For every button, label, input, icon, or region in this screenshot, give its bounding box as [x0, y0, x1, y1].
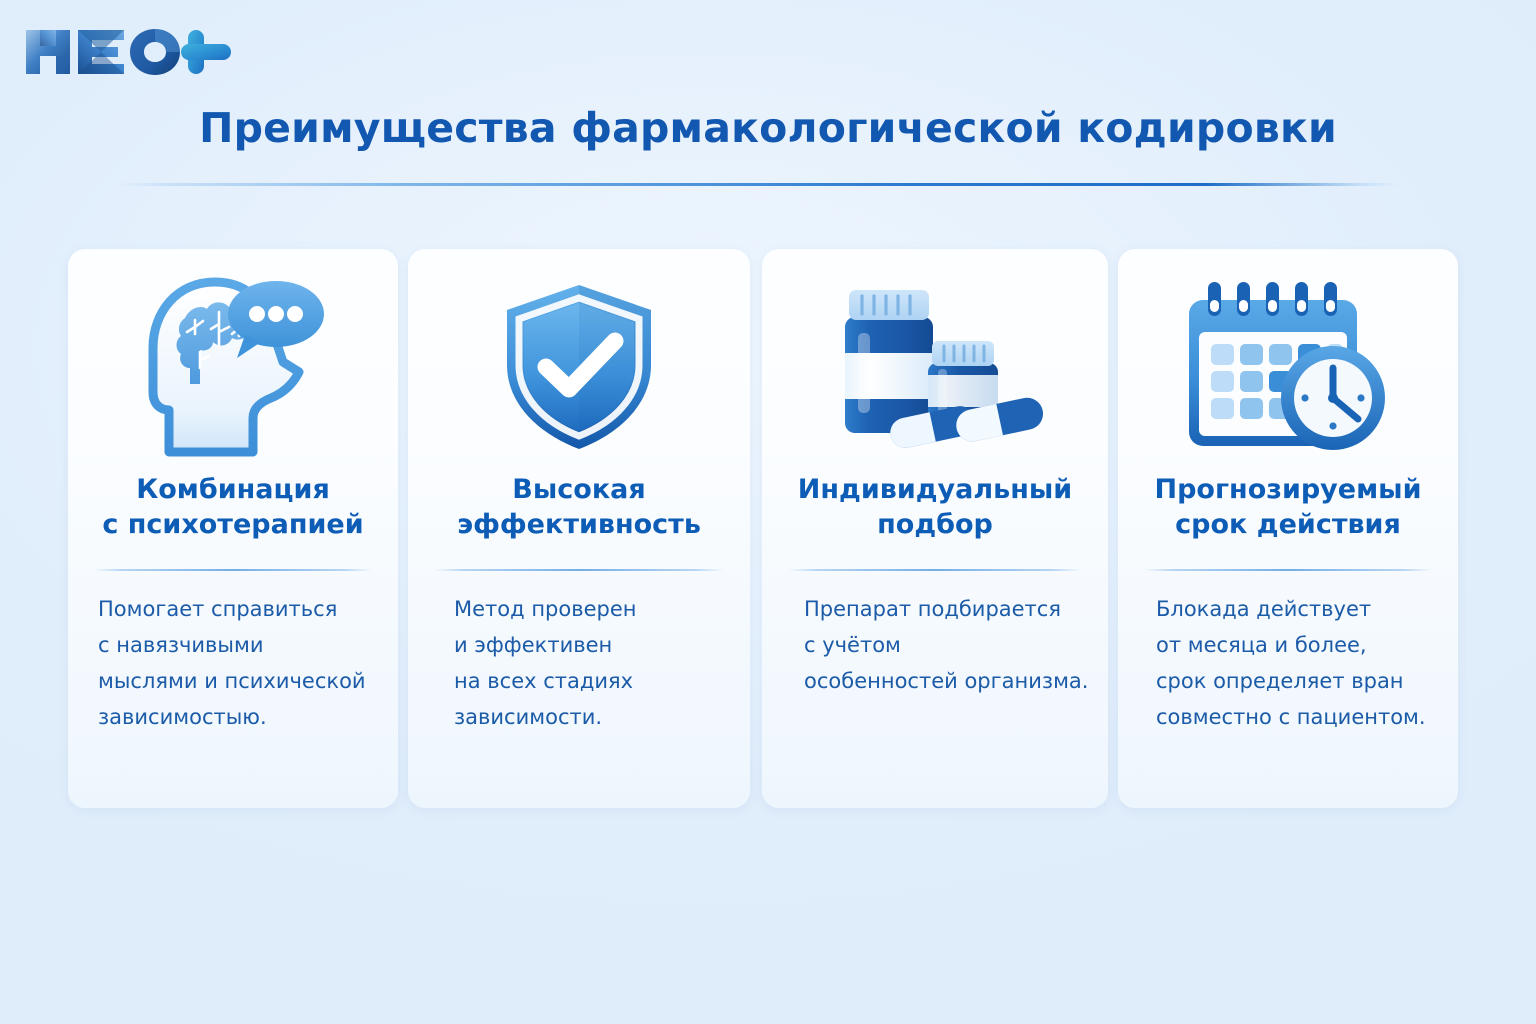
brand-logo: [18, 18, 248, 80]
pill-bottles-capsules-icon: [762, 267, 1108, 467]
benefit-card-predictable-duration: Прогнозируемый срок действия Блокада дей…: [1118, 249, 1458, 808]
card-divider: [1144, 569, 1432, 571]
card-divider: [434, 569, 724, 571]
card-body-text: Метод проверен и эффективен на всех стад…: [454, 591, 732, 735]
card-divider: [94, 569, 372, 571]
infographic-page: Преимущества фармакологической кодировки: [0, 0, 1536, 1024]
card-divider: [788, 569, 1082, 571]
shield-check-icon: [408, 267, 750, 467]
card-body-text: Препарат подбирается с учётом особенност…: [804, 591, 1090, 699]
card-title: Прогнозируемый срок действия: [1132, 473, 1444, 543]
benefit-card-efficiency: Высокая эффективность Метод проверен и э…: [408, 249, 750, 808]
card-title: Комбинация с психотерапией: [82, 473, 384, 543]
calendar-clock-icon: [1118, 267, 1458, 467]
card-title: Индивидуальный подбор: [776, 473, 1094, 543]
card-body-text: Блокада действует от месяца и более, сро…: [1156, 591, 1440, 735]
card-title: Высокая эффективность: [422, 473, 736, 543]
neo-plus-logo-icon: [18, 18, 248, 80]
card-body-text: Помогает справиться с навязчивыми мыслям…: [98, 591, 380, 735]
benefit-card-combination: Комбинация с психотерапией Помогает спра…: [68, 249, 398, 808]
benefit-card-individual-selection: Индивидуальный подбор Препарат подбирает…: [762, 249, 1108, 808]
title-divider: [118, 183, 1398, 186]
page-title: Преимущества фармакологической кодировки: [0, 104, 1536, 152]
brain-head-speech-bubble-icon: [68, 267, 398, 467]
